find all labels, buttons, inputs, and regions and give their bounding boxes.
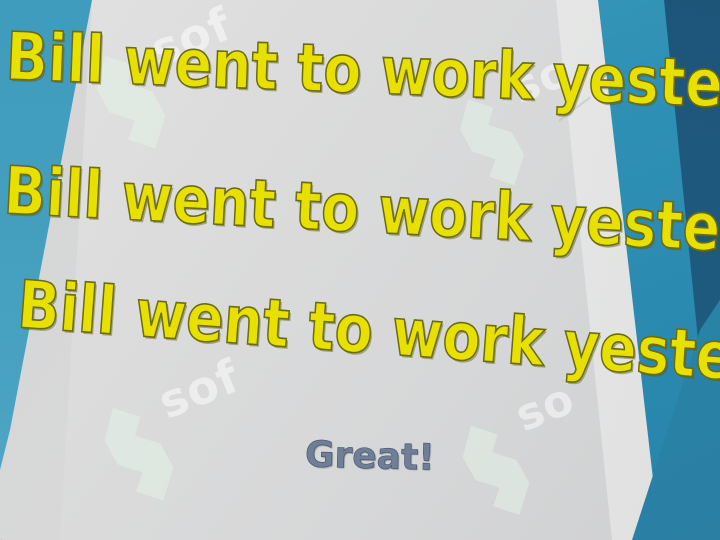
slide-caption-great: Great! xyxy=(304,434,435,478)
presentation-slide: sof so sof so Bill went to work yesterda… xyxy=(0,0,720,540)
